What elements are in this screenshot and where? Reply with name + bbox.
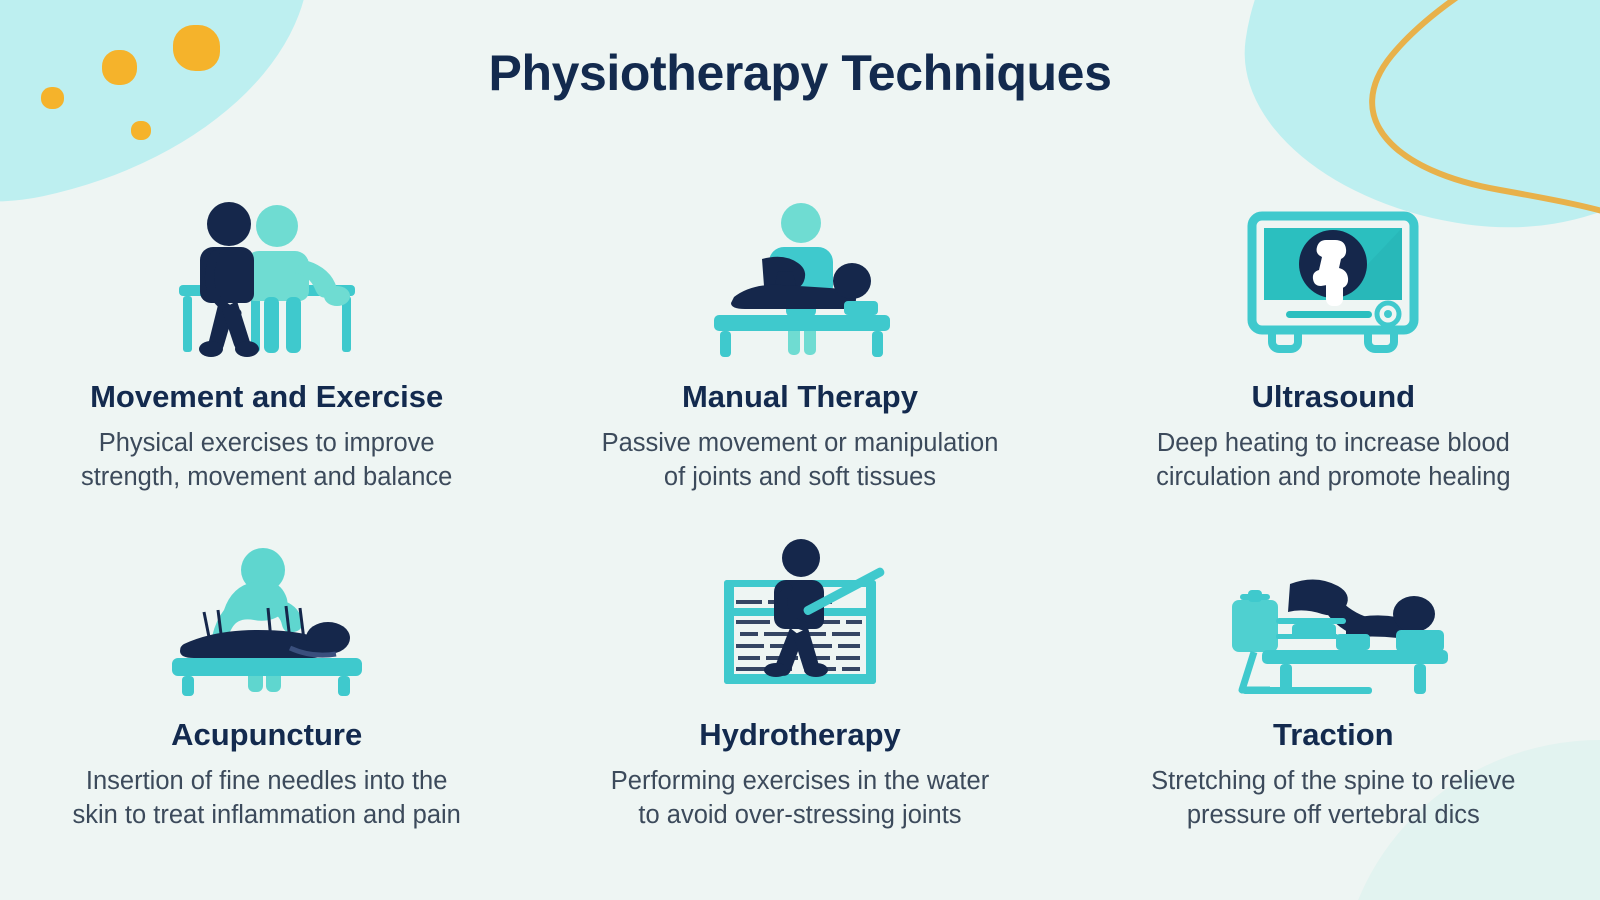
card-description-line2: skin to treat inflammation and pain [72,801,460,829]
card-movement-and-exercise: Movement and Exercise Physical exercises… [0,190,533,528]
card-description-line1: Performing exercises in the water [611,767,989,795]
gold-curve-icon [1300,0,1600,220]
card-description: Deep heating to increase blood circulati… [1156,426,1510,494]
card-description: Performing exercises in the water to avo… [611,764,989,832]
card-description-line2: pressure off vertebral dics [1187,801,1480,829]
card-description-line2: of joints and soft tissues [664,463,936,491]
card-description-line1: Insertion of fine needles into the [86,767,448,795]
card-description: Physical exercises to improve strength, … [81,426,452,494]
card-title: Movement and Exercise [90,380,443,414]
hydrotherapy-icon [700,528,900,696]
card-description-line2: circulation and promote healing [1156,463,1510,491]
manual-therapy-icon [700,190,900,362]
card-description-line1: Passive movement or manipulation [602,429,999,457]
ultrasound-icon [1238,190,1428,362]
card-description: Passive movement or manipulation of join… [602,426,999,494]
movement-exercise-icon [167,190,367,362]
card-title: Acupuncture [171,718,362,752]
card-description-line1: Stretching of the spine to relieve [1151,767,1515,795]
card-ultrasound: Ultrasound Deep heating to increase bloo… [1067,190,1600,528]
card-description-line2: to avoid over-stressing joints [638,801,961,829]
page-title: Physiotherapy Techniques [0,44,1600,102]
card-title: Traction [1273,718,1394,752]
card-title: Manual Therapy [682,380,918,414]
card-title: Hydrotherapy [699,718,901,752]
card-description-line1: Deep heating to increase blood [1157,429,1510,457]
acupuncture-icon [162,528,372,696]
card-description-line1: Physical exercises to improve [99,429,435,457]
card-description: Insertion of fine needles into the skin … [72,764,460,832]
card-hydrotherapy: Hydrotherapy Performing exercises in the… [533,528,1066,866]
card-acupuncture: Acupuncture Insertion of fine needles in… [0,528,533,866]
yellow-dot-tiny [131,121,151,140]
card-description-line2: strength, movement and balance [81,463,452,491]
poster-canvas: Physiotherapy Techniques [0,0,1600,900]
card-title: Ultrasound [1252,380,1416,414]
card-traction: Traction Stretching of the spine to reli… [1067,528,1600,866]
card-description: Stretching of the spine to relieve press… [1151,764,1515,832]
techniques-grid: Movement and Exercise Physical exercises… [0,190,1600,866]
card-manual-therapy: Manual Therapy Passive movement or manip… [533,190,1066,528]
traction-icon [1218,528,1448,696]
